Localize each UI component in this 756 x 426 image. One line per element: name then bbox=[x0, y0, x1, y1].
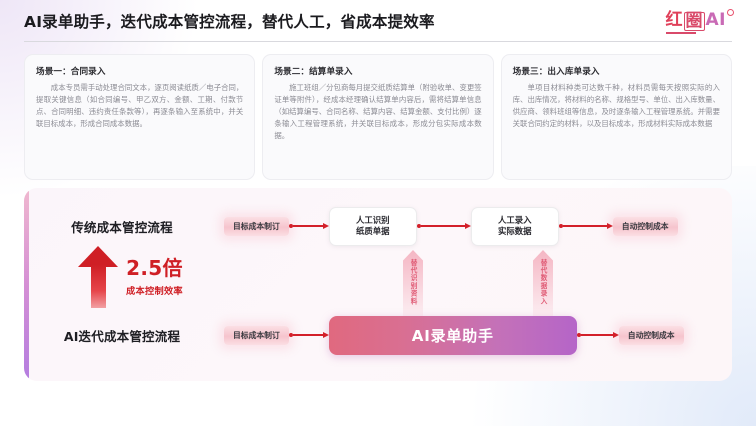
scenario-card-title: 场景三：出入库单录入 bbox=[513, 65, 720, 77]
connector-line bbox=[581, 334, 613, 336]
ai-flow-label: AI迭代成本管控流程 bbox=[24, 326, 220, 345]
connector-arrow bbox=[289, 221, 329, 231]
replace-label-text: 替代数据录入 bbox=[538, 259, 548, 305]
arrow-head-icon bbox=[323, 332, 329, 338]
traditional-flow-label: 传统成本管控流程 bbox=[24, 217, 220, 236]
replace-label-text: 替代识别资料 bbox=[408, 259, 418, 305]
connector-arrow bbox=[559, 221, 613, 231]
scenario-card-title: 场景一：合同录入 bbox=[36, 65, 243, 77]
ai-flow-row: AI迭代成本管控流程 目标成本制订 AI录单助手 自动控制成本 bbox=[24, 314, 732, 356]
connector-line bbox=[563, 225, 607, 227]
process-diagram-panel: 传统成本管控流程 目标成本制订 人工识别 纸质单据 人工录入 实际数据 自动控制… bbox=[24, 188, 732, 381]
logo-circle-icon bbox=[727, 9, 734, 16]
connector-arrow bbox=[289, 330, 329, 340]
page-header: AI录单助手，迭代成本管控流程，替代人工，省成本提效率 红 圈 AI bbox=[0, 0, 756, 42]
connector-line bbox=[421, 225, 465, 227]
process-node-manual-entry[interactable]: 人工录入 实际数据 bbox=[471, 207, 559, 246]
node-line-2: 实际数据 bbox=[498, 226, 532, 237]
scenario-card-title: 场景二：结算单录入 bbox=[274, 65, 481, 77]
replace-label-recognize: 替代识别资料 bbox=[403, 250, 423, 316]
arrow-head-icon bbox=[613, 332, 619, 338]
scenario-card-body: 单项目材料种类可达数千种，材料员需每天按照实际的入库、出库情况，将材料的名称、规… bbox=[513, 82, 720, 130]
ai-end-chip[interactable]: 自动控制成本 bbox=[619, 326, 684, 345]
connector-line bbox=[293, 225, 323, 227]
growth-indicator: 2.5倍 成本控制效率 bbox=[52, 246, 248, 308]
node-line-1: 人工识别 bbox=[356, 215, 390, 226]
replace-label-entry: 替代数据录入 bbox=[533, 250, 553, 316]
logo-char-hong: 红 bbox=[666, 12, 683, 29]
ai-assistant-box[interactable]: AI录单助手 bbox=[329, 316, 577, 355]
traditional-end-chip[interactable]: 自动控制成本 bbox=[613, 217, 678, 236]
logo-text-ai: AI bbox=[706, 12, 726, 29]
connector-line bbox=[293, 334, 323, 336]
traditional-flow-row: 传统成本管控流程 目标成本制订 人工识别 纸质单据 人工录入 实际数据 自动控制… bbox=[24, 205, 732, 247]
up-arrow-icon bbox=[78, 246, 118, 308]
up-arrow-head bbox=[78, 246, 118, 267]
traditional-start-chip[interactable]: 目标成本制订 bbox=[224, 217, 289, 236]
ai-start-chip[interactable]: 目标成本制订 bbox=[224, 326, 289, 345]
connector-arrow bbox=[577, 330, 619, 340]
arrow-head-icon bbox=[607, 223, 613, 229]
scenario-card-body: 施工班组／分包商每月提交纸质结算单（附验收单、变更签证单等附件），经成本经理确认… bbox=[274, 82, 481, 142]
scenario-card: 场景三：出入库单录入 单项目材料种类可达数千种，材料员需每天按照实际的入库、出库… bbox=[501, 54, 732, 180]
brand-logo: 红 圈 AI bbox=[666, 12, 734, 31]
growth-caption: 成本控制效率 bbox=[126, 283, 183, 297]
up-arrow-shaft bbox=[91, 265, 106, 308]
arrow-head-icon bbox=[323, 223, 329, 229]
scenario-card-body: 成本专员需手动处理合同文本，逐页阅读纸质／电子合同，提取关键信息（如合同编号、甲… bbox=[36, 82, 243, 130]
arrow-head-icon bbox=[465, 223, 471, 229]
node-line-1: 人工录入 bbox=[498, 215, 532, 226]
growth-value: 2.5倍 bbox=[126, 258, 183, 279]
page-title: AI录单助手，迭代成本管控流程，替代人工，省成本提效率 bbox=[24, 10, 435, 32]
scenario-card-list: 场景一：合同录入 成本专员需手动处理合同文本，逐页阅读纸质／电子合同，提取关键信… bbox=[24, 54, 732, 180]
connector-arrow bbox=[417, 221, 471, 231]
logo-char-quan: 圈 bbox=[684, 12, 705, 31]
process-node-manual-recognize[interactable]: 人工识别 纸质单据 bbox=[329, 207, 417, 246]
node-line-2: 纸质单据 bbox=[356, 226, 390, 237]
scenario-card: 场景一：合同录入 成本专员需手动处理合同文本，逐页阅读纸质／电子合同，提取关键信… bbox=[24, 54, 255, 180]
logo-underline bbox=[666, 32, 696, 33]
scenario-card: 场景二：结算单录入 施工班组／分包商每月提交纸质结算单（附验收单、变更签证单等附… bbox=[262, 54, 493, 180]
growth-text-group: 2.5倍 成本控制效率 bbox=[126, 258, 183, 297]
